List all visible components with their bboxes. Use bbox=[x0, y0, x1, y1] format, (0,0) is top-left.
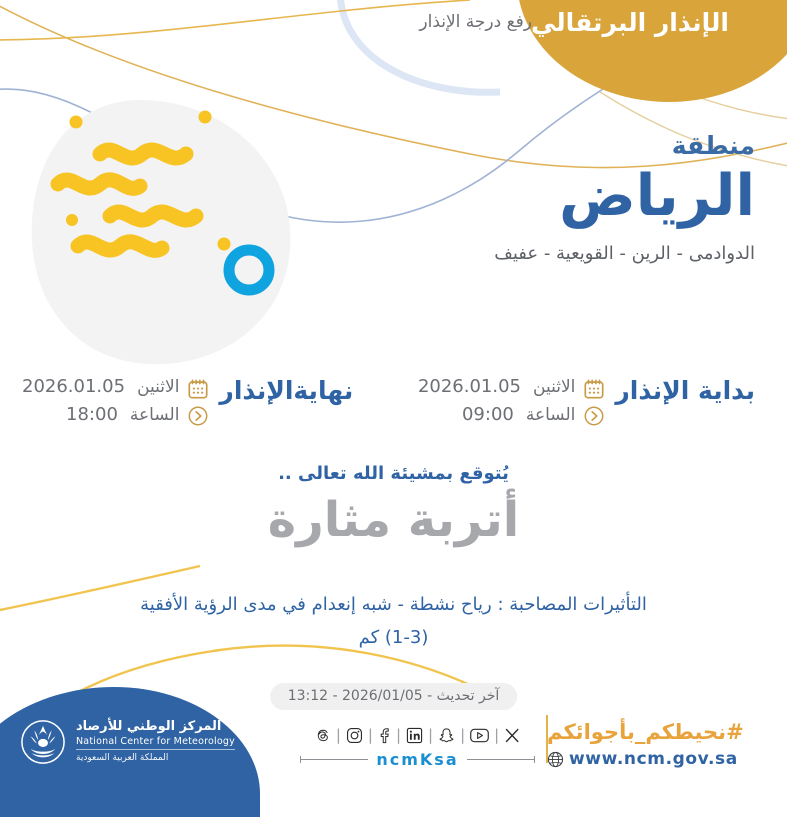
dust-dot-4 bbox=[218, 238, 231, 251]
alert-level-label: الإنذار البرتقالي bbox=[505, 8, 755, 37]
social-separator: | bbox=[396, 728, 401, 743]
region-name: الرياض bbox=[325, 163, 755, 230]
alert-end-hour-label: الساعة bbox=[130, 405, 180, 425]
region-label: منطقة bbox=[325, 130, 755, 161]
social-handle-row: ncmKsa bbox=[300, 750, 535, 769]
alert-start-day: الاثنين bbox=[533, 377, 575, 397]
website-url[interactable]: www.ncm.gov.sa bbox=[569, 749, 738, 769]
effects-line-1: التأثيرات المصاحبة : رياح نشطة - شبه إنع… bbox=[60, 588, 727, 621]
raised-dust-icon bbox=[22, 92, 322, 382]
decor-curve-gold-top bbox=[0, 0, 470, 40]
social-block: | | | | | bbox=[300, 727, 535, 769]
alert-start-date-line: الاثنين 2026.01.05 bbox=[418, 376, 575, 397]
alert-end-hour: 18:00 bbox=[66, 404, 118, 425]
alert-start-date: 2026.01.05 bbox=[418, 376, 521, 397]
region-block: منطقة الرياض الدوادمى - الرين - القويعية… bbox=[325, 130, 755, 264]
associated-effects: التأثيرات المصاحبة : رياح نشطة - شبه إنع… bbox=[60, 588, 727, 655]
alert-end-values: الاثنين 2026.01.05 الساعة 18:00 bbox=[22, 376, 179, 425]
ncm-logo: المركز الوطني للأرصاد National Center fo… bbox=[20, 713, 235, 771]
website-row[interactable]: www.ncm.gov.sa bbox=[547, 749, 738, 769]
social-separator: | bbox=[368, 728, 373, 743]
alert-end-hour-line: الساعة 18:00 bbox=[22, 404, 179, 425]
social-handle[interactable]: ncmKsa bbox=[376, 750, 458, 769]
ncm-logo-text: المركز الوطني للأرصاد National Center fo… bbox=[76, 719, 235, 764]
last-update-badge: آخر تحديث - 2026/01/05 - 13:12 bbox=[270, 683, 518, 710]
ncm-kingdom-arabic: المملكة العربية السعودية bbox=[76, 753, 168, 764]
handle-rule-left bbox=[467, 759, 535, 760]
alert-start-icons bbox=[583, 376, 605, 427]
globe-icon bbox=[547, 751, 564, 768]
dust-dot-3 bbox=[66, 214, 78, 226]
time-chevron-icon bbox=[583, 405, 605, 427]
alert-end-heading: نهايةالإنذار bbox=[219, 376, 353, 406]
alert-start-values: الاثنين 2026.01.05 الساعة 09:00 bbox=[418, 376, 575, 425]
weather-alert-poster: الإنذار البرتقالي رفع درجة الإنذار منطقة… bbox=[0, 0, 787, 787]
time-chevron-icon bbox=[187, 405, 209, 427]
phenomenon-intro: يُتوقع بمشيئة الله تعالى .. bbox=[0, 463, 787, 484]
saudi-emblem-icon bbox=[20, 719, 66, 765]
ncm-name-english: National Center for Meteorology bbox=[76, 736, 235, 751]
handle-rule-right bbox=[300, 759, 368, 760]
alert-end-block: نهايةالإنذار bbox=[22, 376, 353, 427]
campaign-hashtag[interactable]: #نحيطكم_بأجوائكم bbox=[547, 720, 744, 744]
social-separator: | bbox=[494, 728, 499, 743]
alert-start-hour: 09:00 bbox=[462, 404, 514, 425]
social-separator: | bbox=[460, 728, 465, 743]
phenomenon-title: أتربة مثارة bbox=[0, 492, 787, 550]
calendar-icon bbox=[187, 378, 209, 400]
social-icons-row: | | | | | bbox=[314, 727, 521, 744]
alert-times-row: بداية الإنذار bbox=[0, 376, 787, 448]
dust-dot-2 bbox=[199, 111, 212, 124]
dust-dot-1 bbox=[70, 116, 83, 129]
region-subareas: الدوادمى - الرين - القويعية - عفيف bbox=[325, 243, 755, 264]
alert-end-date: 2026.01.05 bbox=[22, 376, 125, 397]
phenomenon-block: يُتوقع بمشيئة الله تعالى .. أتربة مثارة bbox=[0, 463, 787, 550]
social-separator: | bbox=[428, 728, 433, 743]
social-separator: | bbox=[336, 728, 341, 743]
ncm-name-arabic: المركز الوطني للأرصاد bbox=[76, 719, 221, 735]
alert-end-day: الاثنين bbox=[137, 377, 179, 397]
promo-block: #نحيطكم_بأجوائكم www.ncm.gov.sa bbox=[547, 720, 765, 769]
alert-start-hour-line: الساعة 09:00 bbox=[418, 404, 575, 425]
facebook-icon[interactable] bbox=[378, 727, 391, 744]
snapchat-icon[interactable] bbox=[438, 727, 455, 744]
alert-end-icons bbox=[187, 376, 209, 427]
youtube-icon[interactable] bbox=[470, 727, 489, 744]
calendar-icon bbox=[583, 378, 605, 400]
alert-start-block: بداية الإنذار bbox=[418, 376, 755, 427]
x-icon[interactable] bbox=[504, 727, 521, 744]
effects-line-2: (1-3) كم bbox=[60, 621, 727, 654]
linkedin-icon[interactable] bbox=[406, 727, 423, 744]
alert-start-hour-label: الساعة bbox=[526, 405, 576, 425]
dust-blob bbox=[32, 100, 291, 364]
alert-start-heading: بداية الإنذار bbox=[615, 376, 755, 406]
alert-upgrade-note: رفع درجة الإنذار bbox=[419, 12, 532, 32]
alert-end-date-line: الاثنين 2026.01.05 bbox=[22, 376, 179, 397]
threads-icon[interactable] bbox=[314, 727, 331, 744]
instagram-icon[interactable] bbox=[346, 727, 363, 744]
